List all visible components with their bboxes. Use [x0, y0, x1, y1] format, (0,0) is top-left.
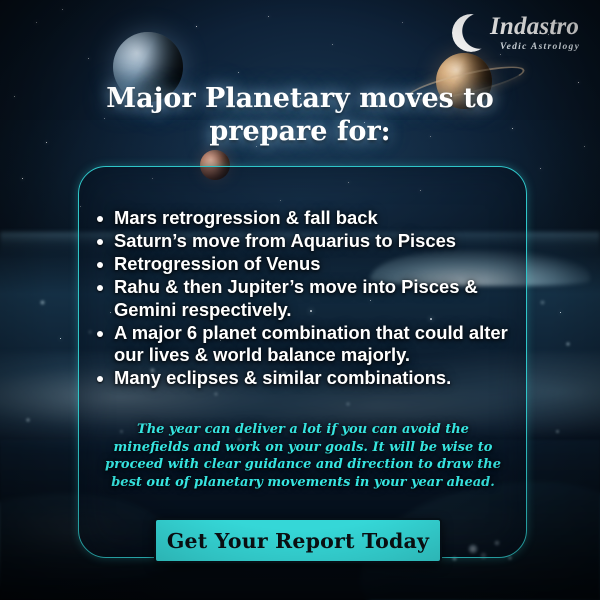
- water-sparkle: [60, 338, 61, 339]
- brand-name: Indastro: [490, 13, 579, 41]
- planetary-moves-list: Mars retrogression & fall backSaturn’s m…: [92, 207, 524, 390]
- page-title: Major Planetary moves to prepare for:: [0, 82, 600, 149]
- get-report-button[interactable]: Get Your Report Today: [154, 518, 442, 563]
- brand-logo[interactable]: Indastro Vedic Astrology: [452, 8, 592, 64]
- foam-sparkle: [556, 430, 559, 433]
- list-item: Retrogression of Venus: [92, 253, 524, 276]
- page-title-line-1: Major Planetary moves to: [46, 82, 554, 115]
- page-title-line-2: prepare for:: [46, 115, 554, 148]
- list-item: Mars retrogression & fall back: [92, 207, 524, 230]
- foam-sparkle: [566, 342, 570, 346]
- advisory-note: The year can deliver a lot if you can av…: [98, 421, 508, 492]
- foam-sparkle: [40, 300, 45, 305]
- list-item: A major 6 planet combination that could …: [92, 322, 524, 368]
- list-item: Saturn’s move from Aquarius to Pisces: [92, 230, 524, 253]
- foam-sparkle: [26, 418, 30, 422]
- crescent-moon-icon: [452, 14, 490, 52]
- foam-sparkle: [540, 300, 545, 305]
- promo-poster: Indastro Vedic Astrology Major Planetary…: [0, 0, 600, 600]
- brand-tagline: Vedic Astrology: [500, 42, 580, 52]
- water-sparkle: [560, 312, 561, 313]
- list-item: Rahu & then Jupiter’s move into Pisces &…: [92, 276, 524, 322]
- foam-sparkle: [508, 556, 512, 560]
- list-item: Many eclipses & similar combinations.: [92, 367, 524, 390]
